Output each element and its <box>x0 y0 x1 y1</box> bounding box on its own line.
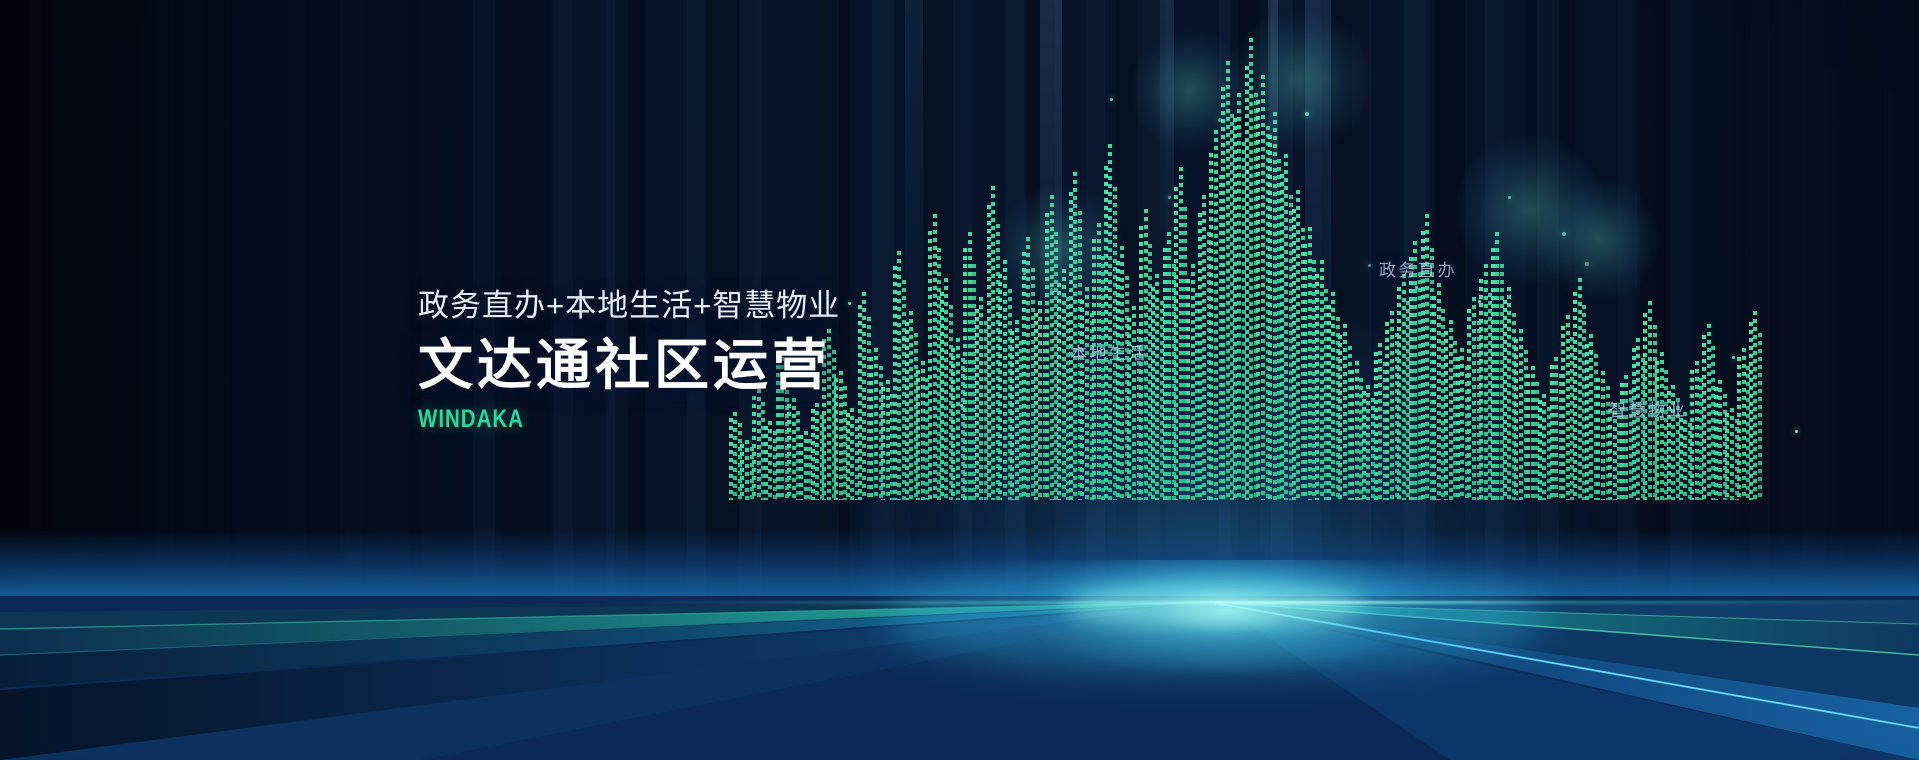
bar-dot-column <box>1209 153 1213 500</box>
chart-bar <box>1396 274 1408 500</box>
bar-dot-column <box>1249 38 1253 500</box>
bar-dot-column <box>1702 335 1706 500</box>
chart-bar <box>1291 190 1303 500</box>
subtitle: 政务直办+本地生活+智慧物业 <box>418 288 840 325</box>
bar-dot-column <box>940 292 944 500</box>
bar-dot-column <box>804 431 808 500</box>
bar-dot-column <box>1343 324 1347 500</box>
bar-dot-column <box>1237 93 1241 500</box>
chart-bar <box>1279 154 1291 501</box>
bar-dot-column <box>909 311 913 500</box>
chart-bar <box>1068 172 1080 500</box>
chart-bar <box>1748 311 1760 500</box>
chart-bar <box>1009 320 1021 500</box>
chart-bar <box>1443 320 1455 500</box>
bar-dot-column <box>1022 252 1026 500</box>
chart-bar <box>916 361 928 500</box>
bar-dot-column <box>1402 274 1406 500</box>
bar-dot-column <box>1409 257 1413 500</box>
chart-bar <box>857 292 869 500</box>
horizon-line <box>600 601 1919 604</box>
bar-dot-column <box>1080 300 1084 500</box>
chart-bar <box>1502 287 1514 500</box>
chart-bar <box>1690 361 1702 500</box>
bar-dot-column <box>916 370 920 500</box>
bar-dot-column <box>1163 248 1167 500</box>
bar-dot-column <box>1538 400 1542 500</box>
chart-bar <box>1080 287 1092 500</box>
bar-dot-column <box>1338 335 1342 500</box>
bar-dot-column <box>1378 343 1382 500</box>
chart-bar <box>1033 301 1045 500</box>
bar-dot-column <box>1057 283 1061 500</box>
bar-dot-column <box>1179 167 1183 500</box>
page-title: 文达通社区运营 <box>418 336 840 395</box>
bar-dot-column <box>1758 333 1762 500</box>
chart-bar <box>1619 375 1631 500</box>
bar-dot-column <box>1273 112 1277 500</box>
bar-dot-column <box>921 361 925 500</box>
chart-bar <box>1713 380 1725 500</box>
chart-bar <box>1197 195 1209 500</box>
bar-dot-column <box>874 348 878 500</box>
bar-dot-column <box>1432 296 1436 500</box>
bar-dot-column <box>1491 248 1495 500</box>
chart-bar <box>1584 334 1596 500</box>
bar-dot-column <box>991 186 995 500</box>
bar-dot-column <box>1444 331 1448 500</box>
bar-dot-column <box>1495 232 1499 500</box>
chart-bar <box>1361 385 1373 501</box>
bar-dot-column <box>944 278 948 500</box>
chart-bar <box>1244 38 1256 500</box>
chart-bar <box>1338 324 1350 500</box>
chart-bar <box>1303 227 1315 500</box>
chart-bar <box>1103 144 1115 500</box>
bar-dot-column <box>1397 287 1401 500</box>
chart-bar <box>1537 394 1549 500</box>
chart-bar <box>1209 130 1221 500</box>
bar-dot-column <box>1714 387 1718 500</box>
bar-dot-column <box>1683 412 1687 500</box>
bar-dot-column <box>893 266 897 501</box>
bar-dot-column <box>1320 260 1324 500</box>
chart-bar <box>1150 274 1162 500</box>
bar-dot-column <box>1503 300 1507 500</box>
bar-dot-column <box>1707 324 1711 500</box>
bar-dot-column <box>1660 352 1664 500</box>
bar-dot-column <box>1390 311 1394 500</box>
bar-dot-column <box>1174 187 1178 500</box>
chart-bar <box>1221 61 1233 500</box>
chart-bar <box>998 260 1010 500</box>
dot-matrix-bar-chart <box>0 0 1919 640</box>
bar-dot-column <box>1624 375 1628 500</box>
bar-dot-column <box>1132 306 1136 500</box>
chart-section-label-2: 政务直办 <box>1379 256 1457 281</box>
bar-dot-column <box>1303 244 1307 500</box>
bar-dot-column <box>1484 264 1488 500</box>
chart-bar <box>1256 75 1268 500</box>
bar-dot-column <box>1355 361 1359 500</box>
bar-dot-column <box>1514 339 1518 500</box>
bar-dot-column <box>1268 135 1272 500</box>
bar-dot-column <box>1725 413 1729 500</box>
bar-dot-column <box>1331 292 1335 500</box>
chart-bar <box>1115 246 1127 500</box>
bar-dot-column <box>1233 118 1237 500</box>
chart-bar <box>939 278 951 500</box>
perspective-road <box>0 560 1919 760</box>
chart-bar <box>892 251 904 500</box>
bar-dot-column <box>1695 361 1699 500</box>
bar-dot-column <box>1730 408 1734 500</box>
chart-bar <box>1326 292 1338 500</box>
chart-bar <box>1267 112 1279 500</box>
bar-dot-column <box>956 338 960 500</box>
bar-dot-column <box>897 251 901 500</box>
bar-dot-column <box>1167 232 1171 500</box>
chart-bar <box>1232 93 1244 500</box>
bar-dot-column <box>764 426 768 500</box>
chart-bar <box>1572 278 1584 500</box>
bar-dot-column <box>933 214 937 500</box>
bar-dot-column <box>1655 361 1659 500</box>
chart-bar <box>1479 264 1491 500</box>
chart-bar <box>1021 237 1033 500</box>
chart-bar <box>1185 264 1197 500</box>
chart-bar <box>974 297 986 500</box>
bar-dot-column <box>1578 278 1582 500</box>
chart-bar <box>845 408 857 500</box>
bar-dot-column <box>846 413 850 500</box>
bar-dot-column <box>1327 305 1331 500</box>
chart-bar <box>1654 352 1666 500</box>
bar-dot-column <box>1308 227 1312 500</box>
bar-dot-column <box>1155 274 1159 500</box>
bar-dot-column <box>1718 380 1722 500</box>
bar-dot-column <box>928 231 932 500</box>
chart-bar <box>869 348 881 500</box>
bar-dot-column <box>1749 322 1753 500</box>
chart-bar <box>1314 260 1326 500</box>
bar-dot-column <box>975 309 979 500</box>
bar-dot-column <box>987 205 991 500</box>
bar-dot-column <box>1585 344 1589 500</box>
bar-dot-column <box>979 297 983 500</box>
bar-dot-column <box>1315 274 1319 500</box>
bar-dot-column <box>1449 320 1453 500</box>
bar-dot-column <box>1573 292 1577 500</box>
headline-block: 政务直办+本地生活+智慧物业 文达通社区运营 WINDAKA <box>418 288 840 434</box>
bar-dot-column <box>1753 311 1757 500</box>
bar-dot-column <box>1092 239 1096 500</box>
chart-bar <box>1737 348 1749 500</box>
bar-dot-column <box>1256 100 1260 500</box>
bar-dot-column <box>963 248 967 500</box>
bar-dot-column <box>869 357 873 500</box>
chart-bar <box>1561 315 1573 500</box>
bar-dot-column <box>905 322 909 500</box>
chart-bar <box>1162 232 1174 500</box>
bar-dot-column <box>1191 264 1195 500</box>
bar-dot-column <box>1366 385 1370 501</box>
chart-bar <box>1174 167 1186 500</box>
bar-dot-column <box>1073 172 1077 500</box>
bar-dot-column <box>1214 130 1218 500</box>
bar-dot-column <box>1561 326 1565 500</box>
chart-bar <box>986 186 998 500</box>
bar-dot-column <box>1104 166 1108 500</box>
chart-bar <box>1549 357 1561 500</box>
chart-bar <box>927 214 939 500</box>
bar-dot-column <box>1050 195 1054 500</box>
bar-dot-column <box>1296 190 1300 500</box>
bar-dot-column <box>1385 322 1389 500</box>
bar-dot-column <box>1280 174 1284 500</box>
bar-dot-column <box>1245 66 1249 500</box>
bar-dot-column <box>1186 279 1190 500</box>
chart-bar <box>1385 311 1397 500</box>
bar-dot-column <box>1519 329 1523 500</box>
chart-bar <box>1455 348 1467 500</box>
chart-bar <box>1701 324 1713 500</box>
bar-dot-column <box>1350 370 1354 500</box>
bar-dot-column <box>1284 154 1288 501</box>
chart-bar <box>1432 283 1444 500</box>
bar-dot-column <box>1507 287 1511 500</box>
chart-bar <box>1725 408 1737 500</box>
bar-dot-column <box>850 408 854 500</box>
chart-bar <box>1514 329 1526 500</box>
bar-dot-column <box>1226 61 1230 500</box>
chart-bar <box>963 232 975 500</box>
bar-dot-column <box>1292 209 1296 500</box>
bar-dot-column <box>1221 87 1225 500</box>
bar-dot-column <box>1085 287 1089 500</box>
bar-dot-column <box>1526 374 1530 500</box>
bar-dot-column <box>799 435 803 500</box>
chart-section-label-3: 智慧物业 <box>1609 396 1687 421</box>
bar-dot-column <box>1679 418 1683 501</box>
chart-bar <box>1056 269 1068 500</box>
bar-dot-column <box>1261 75 1265 500</box>
bar-dot-column <box>1542 394 1546 500</box>
bar-dot-column <box>1034 313 1038 500</box>
chart-bar <box>1678 412 1690 500</box>
bar-dot-column <box>1479 279 1483 500</box>
bar-dot-column <box>862 292 866 500</box>
bar-dot-column <box>1472 297 1476 500</box>
bar-dot-column <box>740 444 744 500</box>
bar-dot-column <box>1437 283 1441 500</box>
bar-dot-column <box>886 380 890 500</box>
chart-bar <box>740 440 752 500</box>
bar-dot-column <box>1596 378 1600 500</box>
chart-bar <box>1525 366 1537 500</box>
chart-bar <box>798 431 810 500</box>
hero-banner: 本地生活政务直办智慧物业 政务直办+本地生活+智慧物业 文达通社区运营 WIND… <box>0 0 1919 760</box>
bar-dot-column <box>1120 246 1124 500</box>
chart-bar <box>1596 371 1608 500</box>
bar-dot-column <box>1456 357 1460 500</box>
bar-dot-column <box>1003 260 1007 500</box>
bar-dot-column <box>1151 287 1155 500</box>
bar-dot-column <box>1015 320 1019 500</box>
chart-bar <box>880 380 892 500</box>
chart-section-label-1: 本地生活 <box>1070 339 1148 364</box>
bar-dot-column <box>1116 261 1120 500</box>
chart-bar <box>1127 306 1139 500</box>
bar-dot-column <box>1108 144 1112 500</box>
chart-bar <box>1373 343 1385 500</box>
chart-bar <box>1490 232 1502 500</box>
bar-dot-column <box>1362 391 1366 500</box>
bar-dot-column <box>1374 352 1378 500</box>
chart-bar <box>951 338 963 500</box>
chart-bar <box>1045 195 1057 500</box>
brand-name: WINDAKA <box>418 405 764 434</box>
chart-bar <box>1350 361 1362 500</box>
bar-dot-column <box>968 232 972 500</box>
bar-dot-column <box>1566 315 1570 500</box>
bar-dot-column <box>1531 366 1535 500</box>
bar-dot-column <box>1690 370 1694 500</box>
bar-dot-column <box>1026 237 1030 500</box>
bar-dot-column <box>1202 195 1206 500</box>
bar-dot-column <box>881 387 885 500</box>
chart-bar <box>1467 297 1479 500</box>
bar-dot-column <box>1550 365 1554 500</box>
chart-bar <box>904 311 916 500</box>
bar-dot-column <box>1589 334 1593 500</box>
bar-dot-column <box>951 348 955 500</box>
bar-dot-column <box>1198 213 1202 500</box>
bar-dot-column <box>858 305 862 500</box>
bar-dot-column <box>1632 348 1636 500</box>
bar-dot-column <box>1062 269 1066 500</box>
bar-dot-column <box>1742 348 1746 500</box>
bar-dot-column <box>745 440 749 500</box>
bar-dot-column <box>998 274 1002 500</box>
bar-dot-column <box>1737 357 1741 500</box>
bar-dot-column <box>1608 409 1612 500</box>
bar-dot-column <box>1010 331 1014 500</box>
bar-dot-column <box>1038 301 1042 500</box>
bar-dot-column <box>1460 348 1464 500</box>
bar-dot-column <box>1045 213 1049 500</box>
bar-dot-column <box>1554 357 1558 500</box>
bar-dot-column <box>1601 371 1605 500</box>
bar-dot-column <box>1467 309 1471 500</box>
